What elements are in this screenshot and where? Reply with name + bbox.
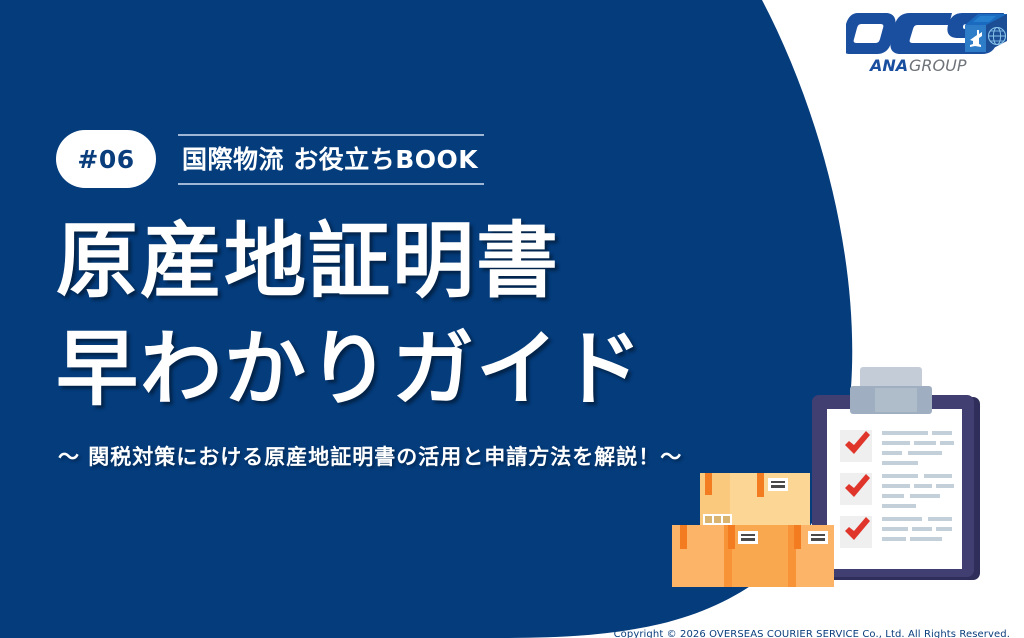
ocs-ana-group-logo: ANA GROUP <box>846 8 1010 74</box>
svg-text:GROUP: GROUP <box>909 56 967 74</box>
footer: Copyright © 2026 OVERSEAS COURIER SERVIC… <box>0 622 1024 638</box>
clipboard-clip <box>850 367 932 414</box>
svg-text:ANA: ANA <box>868 56 908 74</box>
header-title-group: 国際物流 お役立ちBOOK <box>178 134 484 185</box>
fragile-handling-label-icon <box>703 514 732 525</box>
cardboard-box <box>724 525 794 587</box>
copyright-text: Copyright © 2026 OVERSEAS COURIER SERVIC… <box>614 629 1010 638</box>
cardboard-box <box>788 525 834 587</box>
shipping-cube-globe-plane-icon <box>965 14 1007 52</box>
header-title: 国際物流 お役立ちBOOK <box>178 136 484 183</box>
issue-number-label: #06 <box>77 147 134 172</box>
clipboard-checklist-illustration <box>660 355 1024 605</box>
cardboard-box <box>672 525 732 587</box>
page-title-line-1: 原産地証明書 <box>56 208 644 316</box>
header-row: #06 国際物流 お役立ちBOOK <box>56 129 484 189</box>
shipping-label <box>808 531 828 544</box>
shipping-label <box>768 478 788 491</box>
issue-number-badge: #06 <box>56 130 156 188</box>
cardboard-box <box>700 473 810 528</box>
header-rule-bottom <box>178 183 484 185</box>
page-subtitle: 〜 関税対策における原産地証明書の活用と申請方法を解説！〜 <box>58 447 682 468</box>
page-title: 原産地証明書 早わかりガイド <box>56 208 644 424</box>
slide-canvas: ANA GROUP <box>0 0 1024 638</box>
page-title-line-2: 早わかりガイド <box>56 316 644 424</box>
shipping-label <box>738 531 758 544</box>
